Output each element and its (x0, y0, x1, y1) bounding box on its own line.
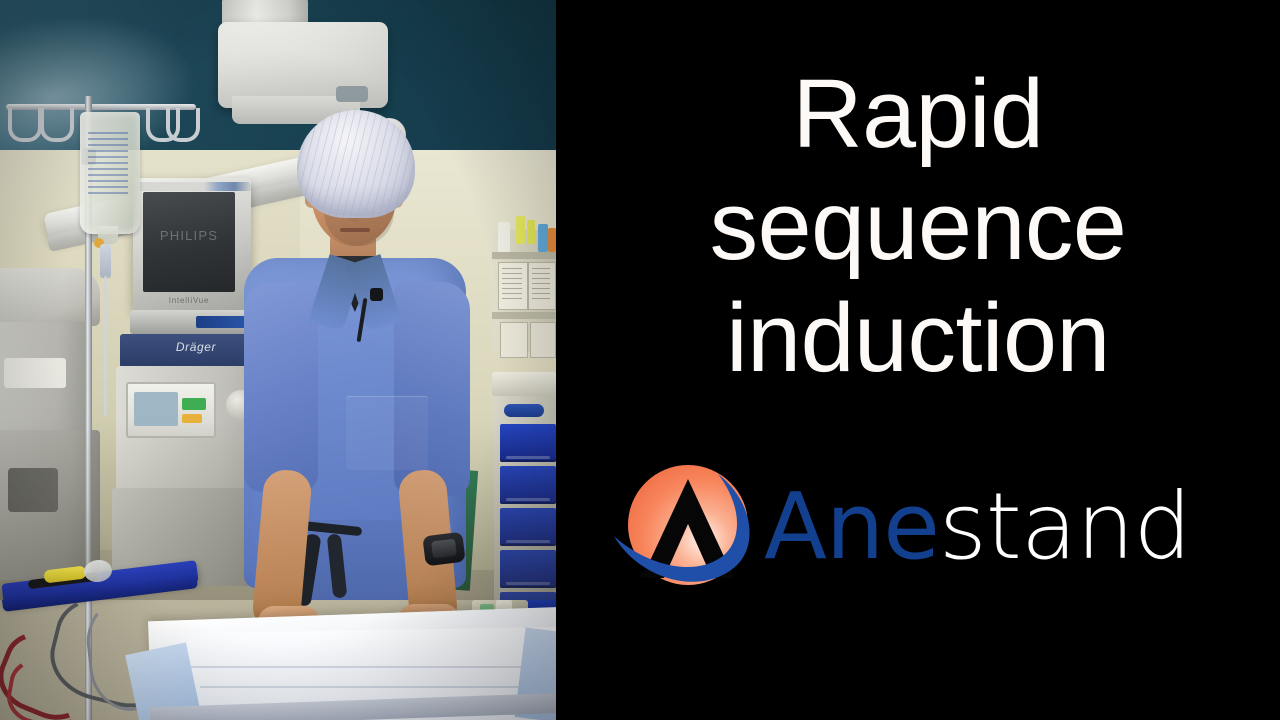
equipment-left-panel (4, 358, 66, 388)
supply-package (530, 322, 556, 358)
subject-sleeve-left (244, 282, 318, 492)
drape-fold (200, 686, 520, 688)
iv-bag-label (88, 132, 128, 198)
wordmark-secondary: stand (939, 479, 1191, 575)
iv-hook (166, 108, 200, 142)
supply-cart-badge (504, 404, 544, 417)
monitor-base-accent (196, 316, 250, 328)
logo-chevron-swoosh-icon (608, 452, 760, 602)
supply-item (527, 220, 535, 244)
title-line-2: sequence (556, 170, 1280, 282)
video-frame[interactable]: PHILIPS IntelliVue Dräger (0, 0, 556, 720)
supply-item (548, 228, 556, 252)
iv-tubing (104, 276, 107, 416)
iv-drip-chamber (100, 244, 111, 278)
package-print (502, 268, 522, 302)
drape-fold (190, 666, 530, 668)
subject-mouth (340, 228, 370, 232)
lapel-microphone (370, 288, 383, 301)
video-title: Rapid sequence induction (556, 58, 1280, 394)
anestand-logo-mark (608, 452, 760, 602)
philips-model-label: IntelliVue (143, 296, 235, 305)
patient-monitor-topbar (133, 182, 251, 191)
title-line-1: Rapid (556, 58, 1280, 170)
supply-cart-top (492, 372, 556, 396)
video-title-card: PHILIPS IntelliVue Dräger (0, 0, 1280, 720)
shelf-rail (492, 252, 556, 259)
wordmark-primary: Ane (764, 479, 939, 575)
scrub-chest-pocket (346, 396, 428, 470)
shelf-rail (492, 312, 556, 319)
anestand-wordmark: Anestand (764, 479, 1191, 575)
status-indicator-green (182, 398, 206, 410)
iv-hook (40, 108, 74, 142)
iv-hook (8, 108, 42, 142)
supply-item (498, 222, 510, 252)
title-panel: Rapid sequence induction Anestand (556, 0, 1280, 720)
supply-item (516, 216, 525, 244)
philips-brand-label: PHILIPS (143, 228, 235, 243)
wristwatch-face (431, 539, 457, 559)
supply-item (538, 224, 548, 252)
surgical-light-lens (336, 86, 368, 102)
package-print (532, 268, 550, 302)
title-line-3: induction (556, 282, 1280, 394)
anestand-logo[interactable]: Anestand (608, 452, 1248, 602)
supply-package (500, 322, 528, 358)
